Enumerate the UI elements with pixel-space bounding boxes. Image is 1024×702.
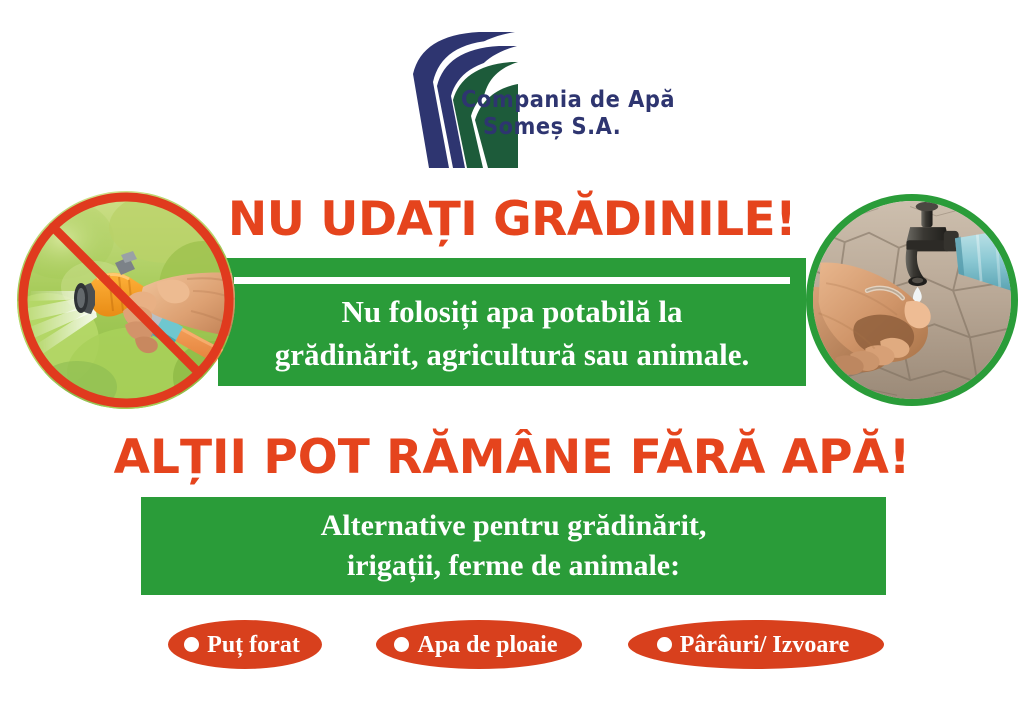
alternatives-banner: Alternative pentru grădinărit, irigații,… [141,497,886,595]
alternative-pill-label: Pârâuri/ Izvoare [680,632,850,658]
warning-banner: Nu folosiți apa potabilă la grădinărit, … [218,258,806,386]
alternative-pill-apa-de-ploaie[interactable]: Apa de ploaie [376,620,582,669]
logo-line-1: Compania de Apă [461,84,661,114]
bullet-dot-icon [394,637,409,652]
bullet-dot-icon [184,637,199,652]
hose-photo [17,191,235,409]
bullet-dot-icon [657,637,672,652]
secondary-headline: ALȚII POT RĂMÂNE FĂRĂ APĂ! [0,430,1024,486]
poster-canvas: Compania de Apă Someș S.A. NU UDAȚI GRĂD… [0,0,1024,702]
logo-wordmark: Compania de Apă Someș S.A. [461,86,661,166]
drought-photo [806,194,1018,406]
warning-text-line-2: grădinărit, agricultură sau animale. [218,331,806,374]
alternative-pill-put-forat[interactable]: Puț forat [168,620,322,669]
alternatives-text-line-1: Alternative pentru grădinărit, [141,506,886,546]
alternatives-text-line-2: irigații, ferme de animale: [141,546,886,586]
alternative-pill-parauri-izvoare[interactable]: Pârâuri/ Izvoare [628,620,884,669]
logo-line-2: Someș S.A. [483,111,661,141]
alternative-pill-label: Puț forat [207,632,300,658]
banner-divider-rule [234,277,790,284]
warning-text-line-1: Nu folosiți apa potabilă la [218,288,806,331]
company-logo: Compania de Apă Someș S.A. [393,30,663,170]
alternative-pill-label: Apa de ploaie [417,632,557,658]
